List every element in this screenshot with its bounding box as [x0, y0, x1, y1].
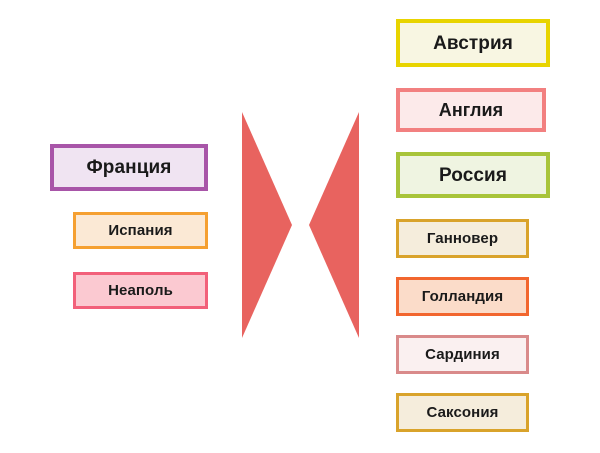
- node-russia[interactable]: Россия: [396, 152, 550, 198]
- node-label-france: Франция: [86, 158, 171, 177]
- node-holland[interactable]: Голландия: [396, 277, 529, 316]
- node-label-holland: Голландия: [422, 289, 503, 304]
- node-naples[interactable]: Неаполь: [73, 272, 208, 309]
- node-spain[interactable]: Испания: [73, 212, 208, 249]
- node-sardinia[interactable]: Сардиния: [396, 335, 529, 374]
- node-hanover[interactable]: Ганновер: [396, 219, 529, 258]
- node-saxony[interactable]: Саксония: [396, 393, 529, 432]
- node-label-england: Англия: [439, 101, 504, 119]
- left-arrow-triangle: [242, 112, 292, 338]
- coalition-diagram: Франция Испания Неаполь Австрия Англия Р…: [0, 0, 600, 453]
- node-label-russia: Россия: [439, 166, 507, 185]
- node-label-hanover: Ганновер: [427, 231, 498, 246]
- node-austria[interactable]: Австрия: [396, 19, 550, 67]
- node-france[interactable]: Франция: [50, 144, 208, 191]
- node-label-sardinia: Сардиния: [425, 347, 500, 362]
- node-label-spain: Испания: [108, 223, 172, 238]
- node-label-austria: Австрия: [433, 34, 513, 53]
- node-label-saxony: Саксония: [426, 405, 498, 420]
- node-england[interactable]: Англия: [396, 88, 546, 132]
- node-label-naples: Неаполь: [108, 283, 173, 298]
- right-arrow-triangle: [309, 112, 359, 338]
